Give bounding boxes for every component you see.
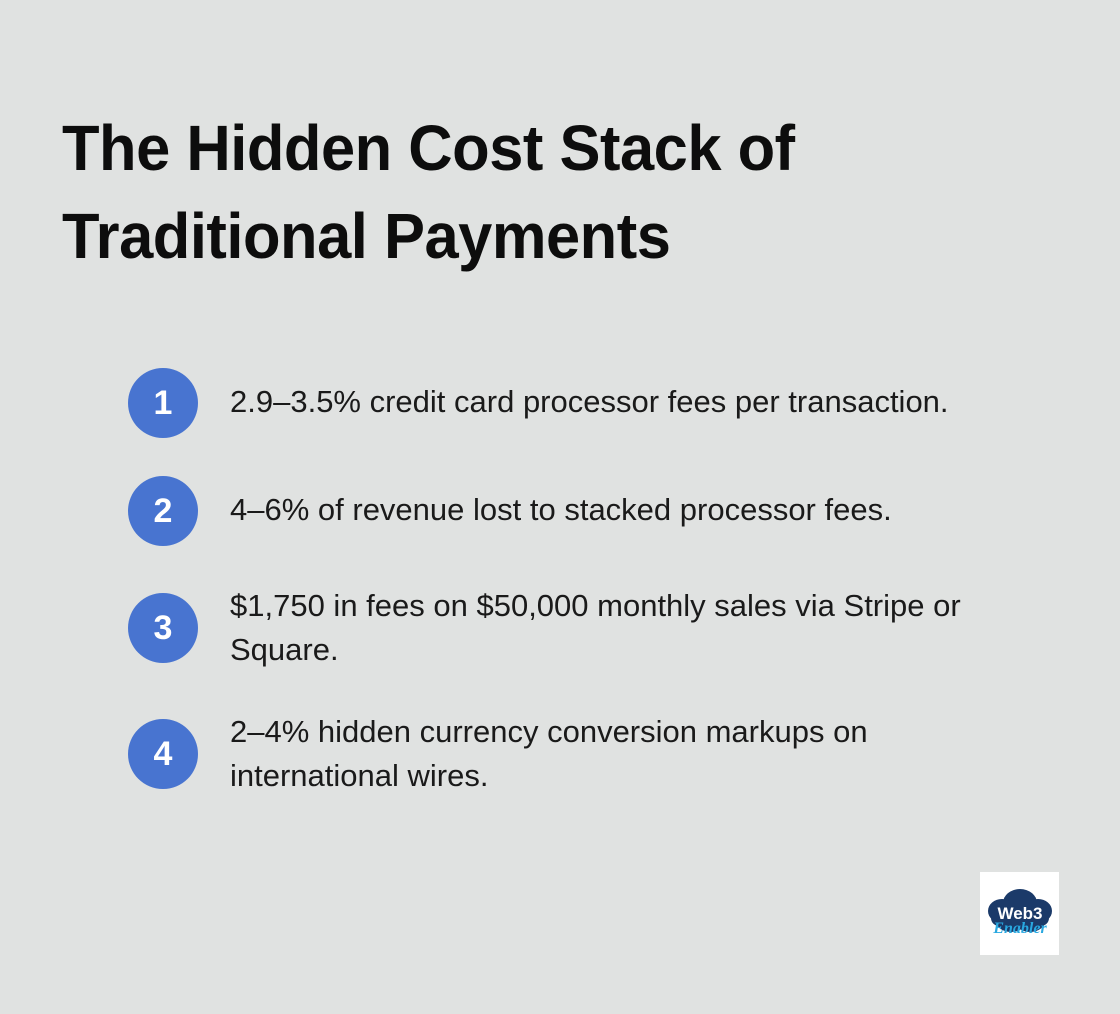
list-item: 2 4–6% of revenue lost to stacked proces…	[128, 476, 1028, 546]
list-item-text: 4–6% of revenue lost to stacked processo…	[230, 476, 892, 532]
infographic-canvas: The Hidden Cost Stack of Traditional Pay…	[0, 0, 1120, 1014]
title-line-1: The Hidden Cost Stack of	[62, 104, 907, 192]
title-line-2: Traditional Payments	[62, 192, 907, 280]
number-badge: 3	[128, 593, 198, 663]
list-item: 1 2.9–3.5% credit card processor fees pe…	[128, 368, 1028, 438]
number-badge: 1	[128, 368, 198, 438]
list-item: 3 $1,750 in fees on $50,000 monthly sale…	[128, 584, 1028, 672]
number-badge: 2	[128, 476, 198, 546]
logo-script-text: Enabler	[992, 920, 1047, 937]
page-title: The Hidden Cost Stack of Traditional Pay…	[62, 104, 942, 280]
brand-logo: Web3 Enabler	[980, 872, 1059, 955]
list-item-text: $1,750 in fees on $50,000 monthly sales …	[230, 584, 1020, 672]
list-item-text: 2–4% hidden currency conversion markups …	[230, 710, 1020, 798]
list-item-text: 2.9–3.5% credit card processor fees per …	[230, 368, 949, 424]
numbered-points-list: 1 2.9–3.5% credit card processor fees pe…	[128, 368, 1028, 798]
cloud-logo-icon: Web3 Enabler	[985, 881, 1055, 947]
list-item: 4 2–4% hidden currency conversion markup…	[128, 710, 1028, 798]
number-badge: 4	[128, 719, 198, 789]
